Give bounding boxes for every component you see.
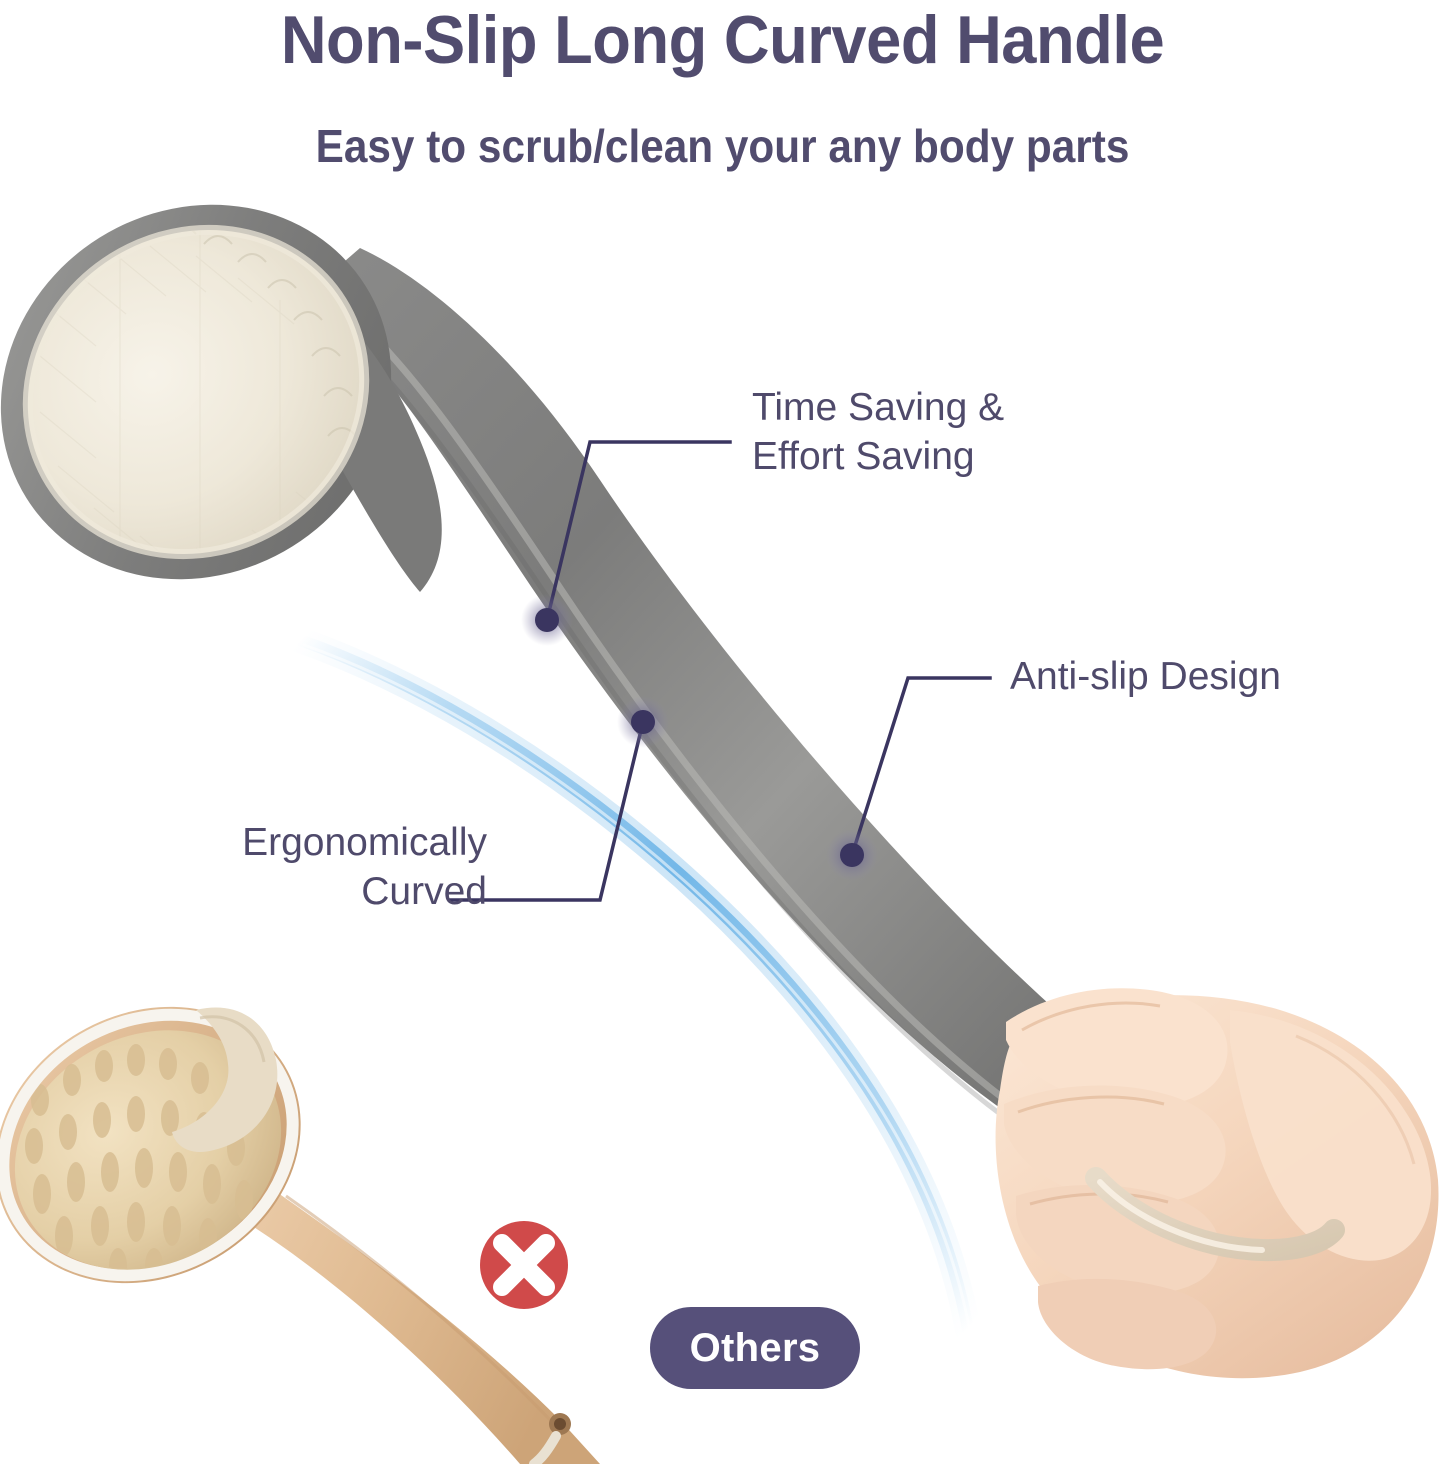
product-illustration	[0, 0, 1445, 1464]
callout-label-anti-slip-design: Anti-slip Design	[1010, 652, 1281, 701]
callout-label-time-saving: Time Saving & Effort Saving	[752, 383, 1004, 481]
hand-grip	[996, 988, 1439, 1378]
product-infographic: Non-Slip Long Curved Handle Easy to scru…	[0, 0, 1445, 1464]
callout-label-ergonomically-curved: Ergonomically Curved	[162, 818, 487, 916]
others-badge: Others	[650, 1307, 860, 1389]
x-cross-icon	[480, 1221, 568, 1309]
wooden-brush-others	[0, 954, 600, 1464]
